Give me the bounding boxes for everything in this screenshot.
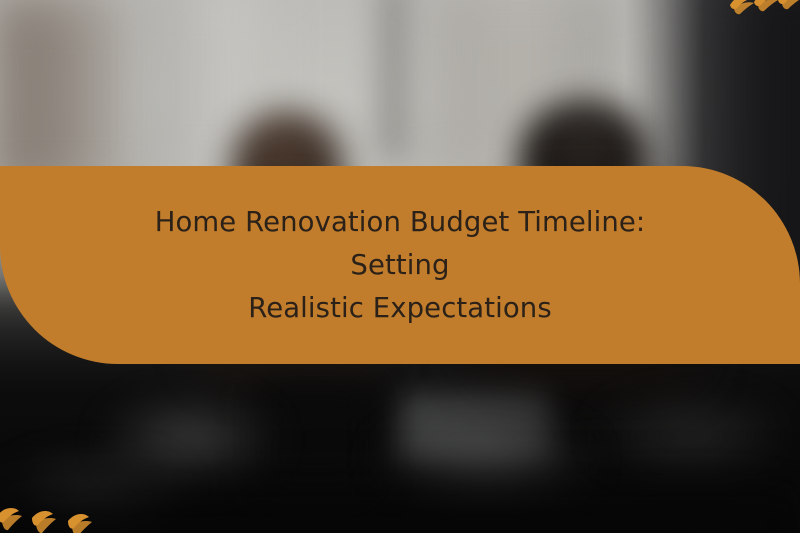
page-title: Home Renovation Budget Timeline: Setting… [80,201,720,330]
hero-banner-image: Home Renovation Budget Timeline: Setting… [0,0,800,533]
page-title-line-2: Realistic Expectations [110,287,690,330]
title-banner: Home Renovation Budget Timeline: Setting… [0,166,800,364]
page-title-line-1: Home Renovation Budget Timeline: Setting [110,201,690,287]
background-wall-pillar [380,0,410,160]
background-bottom-shadow [0,448,800,533]
